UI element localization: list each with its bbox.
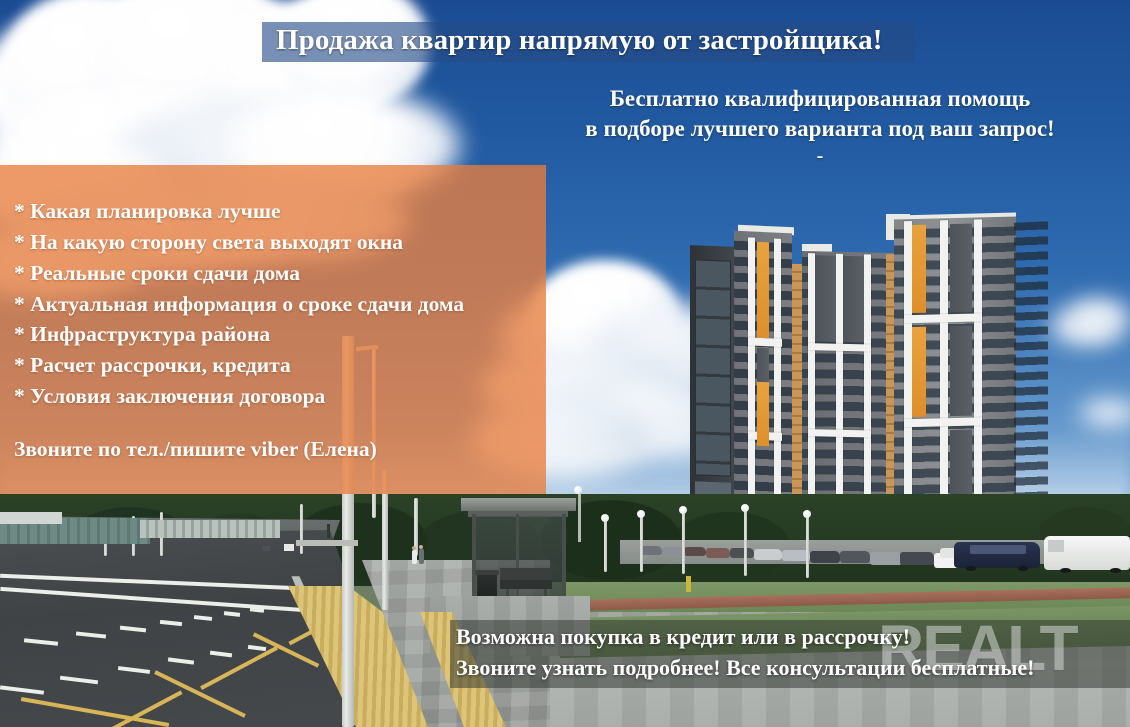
bottom-message: Возможна покупка в кредит или в рассрочк… (456, 621, 1130, 683)
building-facade-left (734, 231, 792, 532)
list-item: * На какую сторону света выходят окна (14, 227, 554, 258)
list-item: * Актуальная информация о сроке сдачи до… (14, 289, 554, 320)
ad-banner: Продажа квартир напрямую от застройщика!… (0, 0, 1130, 727)
bus-stop-lamp (574, 486, 582, 494)
benefits-list: * Какая планировка лучше * На какую стор… (14, 196, 554, 412)
building-facade-right (894, 217, 1016, 538)
subheadline-line-2: в подборе лучшего варианта под ваш запро… (560, 114, 1080, 144)
subheadline: Бесплатно квалифицированная помощь в под… (560, 84, 1080, 167)
overpass (296, 540, 358, 546)
distant-car (262, 546, 270, 551)
call-to-action-text: Звоните по тел./пишите viber (Елена) (14, 437, 554, 462)
distant-bus (284, 544, 294, 551)
building-wing-left (690, 245, 736, 525)
building-facade-far-right (1014, 221, 1048, 534)
list-item: * Реальные сроки сдачи дома (14, 258, 554, 289)
traffic-light (327, 524, 330, 538)
list-item: * Инфраструктура района (14, 319, 554, 350)
bottom-message-line-2: Звоните узнать подробнее! Все консультац… (456, 652, 1130, 683)
yellow-bollard (686, 576, 691, 592)
subheadline-line-3: - (560, 145, 1080, 167)
list-item: * Условия заключения договора (14, 381, 554, 412)
bus-stop-sign-pole (578, 492, 581, 542)
subheadline-line-1: Бесплатно квалифицированная помощь (560, 84, 1080, 114)
bottom-message-line-1: Возможна покупка в кредит или в рассрочк… (456, 621, 1130, 652)
distant-building-left (0, 512, 62, 524)
residential-building (690, 218, 1060, 538)
list-item: * Расчет рассрочки, кредита (14, 350, 554, 381)
page-title: Продажа квартир напрямую от застройщика! (276, 24, 916, 57)
fence-left-2 (140, 520, 280, 538)
list-item: * Какая планировка лучше (14, 196, 554, 227)
